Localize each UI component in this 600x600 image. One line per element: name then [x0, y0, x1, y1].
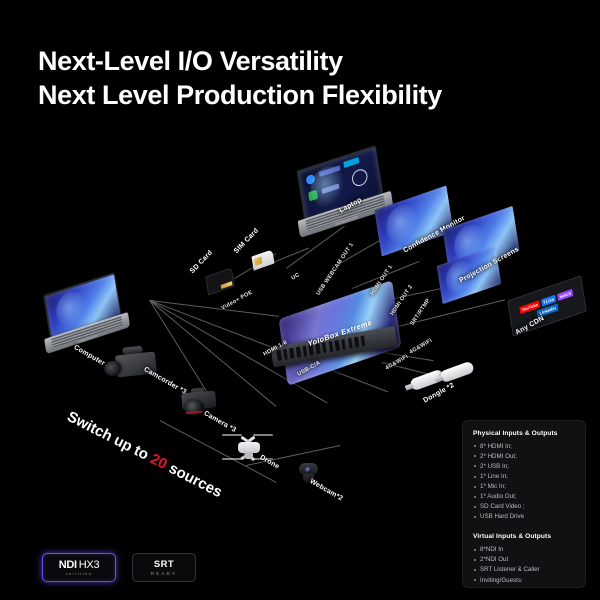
tagline-suffix: sources: [162, 458, 225, 501]
spec-item: 2* USB In;: [473, 462, 575, 472]
badge-ndi-certified: certified: [66, 572, 92, 576]
usb-dongle-2: [439, 361, 475, 384]
source-label-camera: Camera *3: [203, 410, 238, 434]
spec-item: 8*NDI In: [473, 545, 575, 555]
spec-panel: Physical Inputs & Outputs 8* HDMI In; 2*…: [462, 420, 586, 588]
page-title: Next-Level I/O Versatility Next Level Pr…: [38, 44, 578, 113]
spec-item: 8* HDMI In;: [473, 442, 575, 452]
spec-item: 2*NDI Out: [473, 555, 575, 565]
app-label-vmix: [321, 183, 339, 194]
spec-item: 1* Audio Out;: [473, 492, 575, 502]
yolobox-extreme-device: YoloBox Extreme: [279, 280, 402, 386]
app-icon-vmix: [308, 189, 318, 201]
source-computer: [43, 269, 135, 358]
sd-card: [205, 267, 234, 295]
cdn-chip-twitch: twitch: [557, 289, 573, 301]
source-label-computer: Computer: [73, 344, 107, 367]
spec-physical-title: Physical Inputs & Outputs: [473, 430, 575, 437]
port-label-srt-rtmp: SRT/RTMP: [410, 298, 432, 327]
spec-virtual-list: 8*NDI In 2*NDI Out SRT Listener & Caller…: [473, 545, 575, 585]
port-label-usb-webcam-out-1: USB WEBCAM OUT 1: [316, 242, 356, 297]
spec-item: 2* HDMI Out;: [473, 452, 575, 462]
spec-item: SRT Listener & Caller: [473, 565, 575, 575]
port-label-dongle-wifi-2: 4G&WiFi: [409, 338, 434, 356]
badge-srt-sub: READY: [151, 571, 177, 576]
headline-line-1: Next-Level I/O Versatility: [38, 44, 578, 78]
sim-card: [251, 249, 274, 270]
port-label-sim-card: SIM Card: [233, 227, 260, 255]
badge-srt-ready: SRT READY: [132, 553, 196, 582]
port-label-uc: UC: [291, 272, 302, 281]
badge-ndi-main: NDI: [59, 559, 77, 571]
app-icon-zoom: [305, 173, 315, 185]
source-camcorder: [102, 345, 159, 384]
app-icon-globe: [350, 167, 368, 188]
tagline-prefix: Switch up to: [64, 408, 155, 466]
spec-item: Inviting/Guests:: [473, 576, 575, 586]
source-label-webcam: Webcam*2: [309, 478, 344, 503]
spec-item: 1* Line In;: [473, 472, 575, 482]
badge-ndi-sub: HX3: [79, 559, 100, 571]
spec-item: SD Card Video ;: [473, 502, 575, 512]
tagline-switch-sources: Switch up to 20 sources: [64, 408, 225, 501]
app-label-zoom: [318, 165, 340, 177]
certification-badges: NDI HX3 certified SRT READY: [42, 553, 196, 582]
badge-srt-main: SRT: [154, 559, 174, 570]
product-infographic: Next-Level I/O Versatility Next Level Pr…: [0, 0, 600, 600]
port-label-sd-card: SD Card: [189, 249, 214, 275]
spec-physical-list: 8* HDMI In; 2* HDMI Out; 2* USB In; 1* L…: [473, 442, 575, 522]
spec-item: 1* Mic In;: [473, 482, 575, 492]
spec-virtual-title: Virtual Inputs & Outputs: [473, 533, 575, 540]
spec-item: USB Hard Drive: [473, 512, 575, 522]
headline-line-2: Next Level Production Flexibility: [38, 78, 578, 112]
port-label-video-poe: Video+ POE: [221, 290, 254, 312]
app-icon-skype: [343, 157, 359, 168]
badge-ndi-hx3: NDI HX3 certified: [42, 553, 116, 582]
